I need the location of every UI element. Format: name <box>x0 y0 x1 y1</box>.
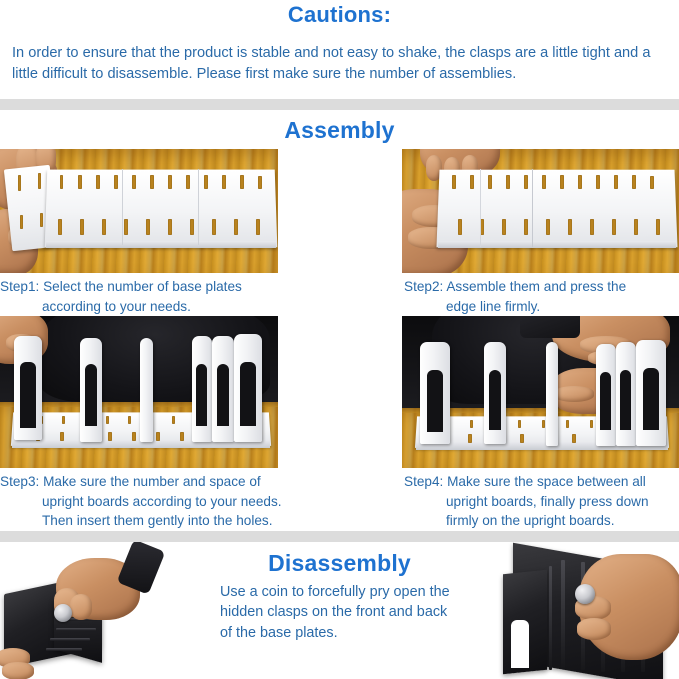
step3-caption-line2: upright boards according to your needs. <box>0 492 305 512</box>
step3-photo <box>0 316 278 468</box>
disassembly-body-line3: of the base plates. <box>220 623 483 644</box>
step4-caption: Step4: Make sure the space between all u… <box>374 468 679 531</box>
step2-photo <box>402 149 679 273</box>
step1-caption: Step1: Select the number of base plates … <box>0 273 305 316</box>
assembly-section: Assembly <box>0 115 679 531</box>
step2-caption-line2: edge line firmly. <box>404 297 679 317</box>
disassembly-heading: Disassembly <box>190 548 489 578</box>
step3-caption: Step3: Make sure the number and space of… <box>0 468 305 531</box>
assembly-caption-row-1: Step1: Select the number of base plates … <box>0 273 679 316</box>
divider-band-top <box>0 99 679 110</box>
step2-caption: Step2: Assemble them and press the edge … <box>374 273 679 316</box>
step3-caption-line1: Step3: Make sure the number and space of <box>0 472 305 492</box>
cautions-body-text: In order to ensure that the product is s… <box>0 43 679 85</box>
assembly-caption-row-2: Step3: Make sure the number and space of… <box>0 468 679 531</box>
disassembly-body-line2: hidden clasps on the front and back <box>220 602 483 623</box>
step2-caption-line1: Step2: Assemble them and press the <box>404 277 679 297</box>
assembly-heading: Assembly <box>0 115 679 145</box>
cautions-section: Cautions: In order to ensure that the pr… <box>0 0 679 85</box>
step3-caption-line3: Then insert them gently into the holes. <box>0 511 305 531</box>
disassembly-photo-left <box>0 542 190 679</box>
disassembly-section: Disassembly Use a coin to forcefully pry… <box>0 542 679 679</box>
step1-photo <box>0 149 278 273</box>
step1-caption-line2: according to your needs. <box>0 297 305 317</box>
step4-caption-line1: Step4: Make sure the space between all <box>404 472 679 492</box>
assembly-photo-row-2 <box>0 316 679 468</box>
assembly-row2-gap <box>278 316 402 468</box>
step4-caption-line3: firmly on the upright boards. <box>404 511 679 531</box>
disassembly-photo-right <box>489 542 679 679</box>
assembly-photo-row-1 <box>0 149 679 273</box>
divider-band-bottom <box>0 531 679 542</box>
step1-caption-line1: Step1: Select the number of base plates <box>0 277 305 297</box>
disassembly-text-block: Disassembly Use a coin to forcefully pry… <box>190 542 489 679</box>
step4-caption-line2: upright boards, finally press down <box>404 492 679 512</box>
step4-photo <box>402 316 679 468</box>
cautions-heading: Cautions: <box>0 2 679 28</box>
caption-gap-1 <box>305 273 374 316</box>
disassembly-body-line1: Use a coin to forcefully pry open the <box>220 582 483 603</box>
assembly-row1-gap <box>278 149 402 273</box>
caption-gap-2 <box>305 468 374 531</box>
